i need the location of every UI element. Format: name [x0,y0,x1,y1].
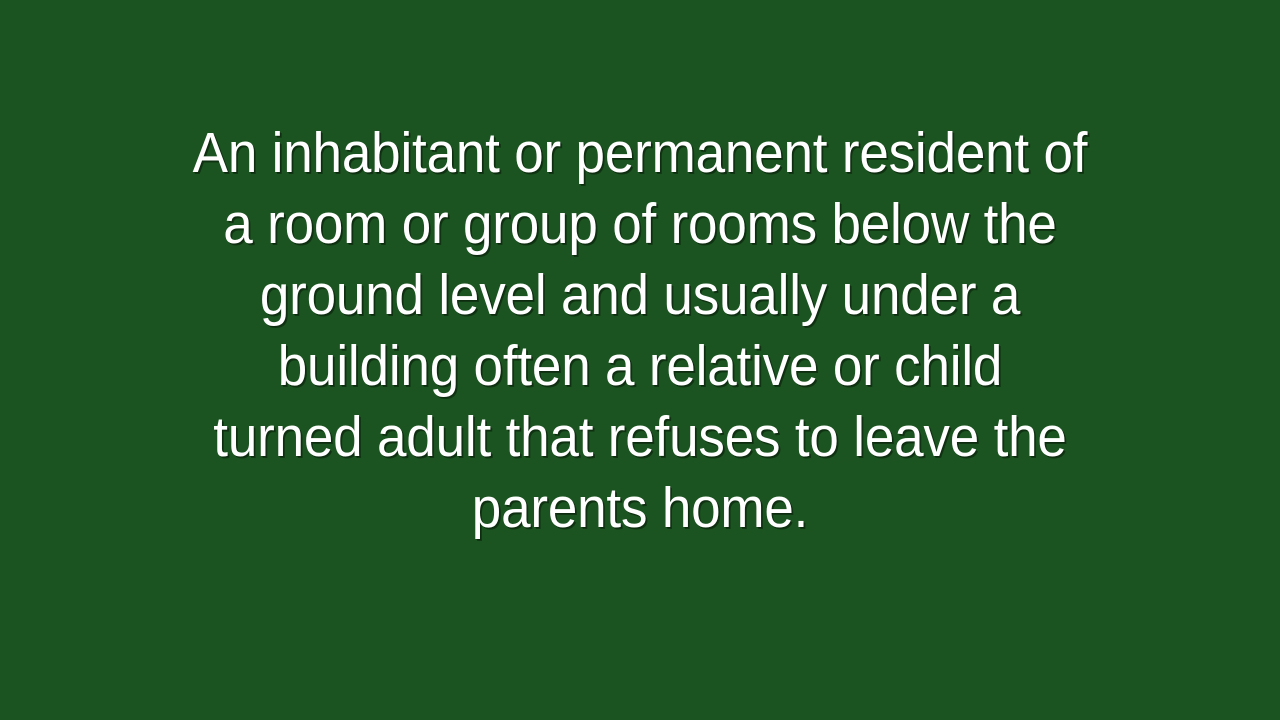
definition-line-1: An inhabitant or permanent resident of [129,118,1152,189]
definition-line-6: parents home. [129,473,1152,544]
definition-line-3: ground level and usually under a [129,260,1152,331]
slide-canvas: An inhabitant or permanent resident of a… [0,0,1280,720]
definition-line-4: building often a relative or child [129,331,1152,402]
definition-line-5: turned adult that refuses to leave the [129,402,1152,473]
definition-text-block: An inhabitant or permanent resident of a… [90,118,1190,544]
definition-line-2: a room or group of rooms below the [129,189,1152,260]
